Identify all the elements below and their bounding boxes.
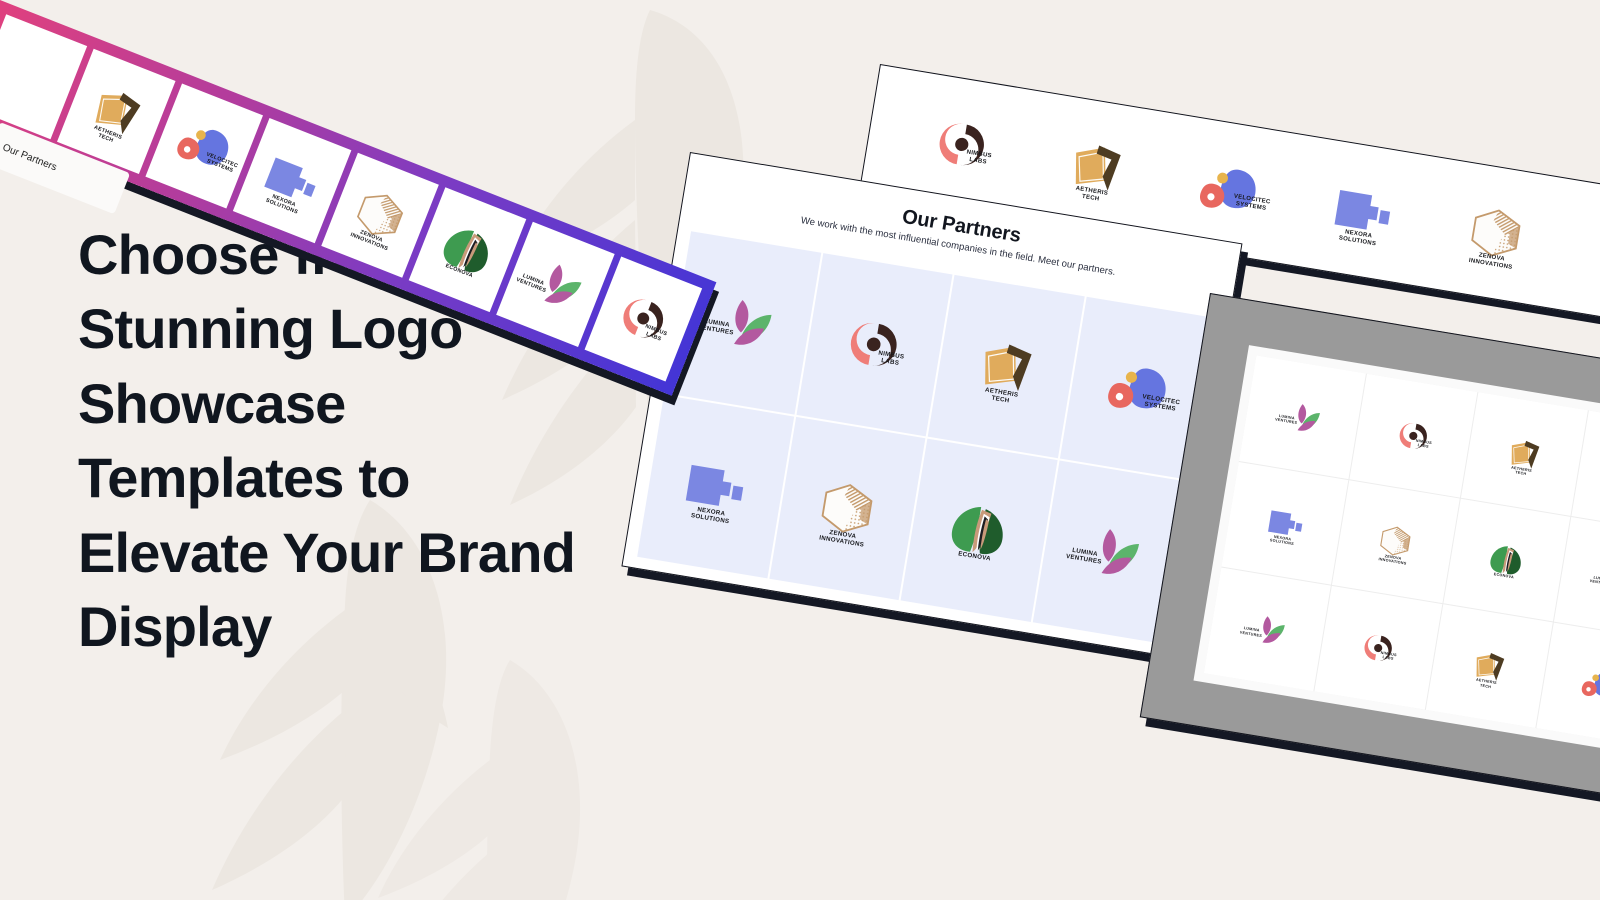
logo-aetheris[interactable]: AETHERIS TECH: [974, 336, 1039, 397]
partner-cell[interactable]: NEXORA SOLUTIONS: [1221, 462, 1348, 585]
logo-zenova[interactable]: ZENOVA INNOVATIONS: [348, 185, 412, 246]
logo-aetheris[interactable]: AETHERIS TECH: [1065, 137, 1128, 196]
partner-cell[interactable]: ECONOVA: [1443, 498, 1570, 621]
logo-velocitec[interactable]: VELOCITEC SYSTEMS: [1196, 159, 1262, 218]
logo-nimbus[interactable]: NIMBUS LABS: [1360, 631, 1397, 666]
partner-cell[interactable]: ECONOVA: [901, 439, 1058, 622]
logo-slot[interactable]: AETHERIS TECH: [1025, 131, 1167, 203]
logo-lumina[interactable]: LUMINA VENTURES: [1247, 612, 1287, 647]
logo-aetheris[interactable]: AETHERIS TECH: [85, 81, 148, 141]
logo-econova[interactable]: ECONOVA: [946, 499, 1011, 561]
partner-cell[interactable]: LUMINA VENTURES: [1204, 568, 1331, 691]
logo-lumina[interactable]: LUMINA VENTURES: [523, 255, 587, 314]
partner-cell[interactable]: AETHERIS TECH: [1460, 392, 1587, 515]
partner-cell[interactable]: NIMBUS LABS: [1315, 586, 1442, 709]
partner-cell[interactable]: AETHERIS TECH: [928, 275, 1085, 458]
logo-econova[interactable]: ECONOVA: [436, 219, 499, 280]
gray-panel-inner-sheet: LUMINA VENTURESNIMBUS LABSAETHERIS TECHV…: [1193, 345, 1600, 757]
logo-nimbus[interactable]: NIMBUS LABS: [1395, 418, 1432, 453]
partner-cell[interactable]: LUMINA VENTURES: [1239, 355, 1366, 478]
logo-velocitec[interactable]: VELOCITEC SYSTEMS: [171, 115, 237, 177]
logo-lumina[interactable]: LUMINA VENTURES: [1077, 523, 1144, 582]
logo-aetheris[interactable]: AETHERIS TECH: [1470, 648, 1509, 684]
logo-slot[interactable]: NEXORA SOLUTIONS: [1292, 176, 1433, 245]
partner-cell[interactable]: NIMBUS LABS: [796, 253, 953, 436]
logo-econova[interactable]: ECONOVA: [1487, 542, 1526, 579]
logo-slot[interactable]: VELOCITEC SYSTEMS: [1158, 153, 1300, 225]
logo-velocitec[interactable]: VELOCITEC SYSTEMS: [1103, 358, 1171, 419]
logo-nexora[interactable]: NEXORA SOLUTIONS: [1330, 182, 1396, 239]
logo-slot[interactable]: ECONOVA: [1558, 218, 1600, 291]
logo-zenova[interactable]: ZENOVA INNOVATIONS: [1464, 203, 1528, 262]
logo-nexora[interactable]: NEXORA SOLUTIONS: [259, 151, 324, 211]
logo-slot[interactable]: NIMBUS LABS: [892, 110, 1033, 179]
logo-nimbus[interactable]: NIMBUS LABS: [613, 290, 673, 348]
logo-slot[interactable]: ZENOVA INNOVATIONS: [1425, 197, 1567, 269]
partner-cell[interactable]: ZENOVA INNOVATIONS: [1332, 480, 1459, 603]
our-partners-grid-card[interactable]: Our Partners We work with the most influ…: [621, 152, 1242, 658]
gray-panel-showcase-card[interactable]: LUMINA VENTURESNIMBUS LABSAETHERIS TECHV…: [1140, 293, 1600, 809]
logo-aetheris[interactable]: AETHERIS TECH: [1505, 436, 1544, 472]
logo-zenova[interactable]: ZENOVA INNOVATIONS: [1376, 523, 1415, 559]
logo-zenova[interactable]: ZENOVA INNOVATIONS: [814, 478, 880, 539]
logo-lumina[interactable]: LUMINA VENTURES: [709, 294, 776, 353]
logo-nimbus[interactable]: NIMBUS LABS: [933, 117, 993, 173]
logo-nexora[interactable]: NEXORA SOLUTIONS: [1265, 506, 1306, 541]
peek-card-label: Our Partners: [1, 142, 58, 173]
partner-cell[interactable]: AETHERIS TECH: [1425, 605, 1552, 728]
logo-velocitec[interactable]: VELOCITEC SYSTEMS: [1579, 666, 1600, 703]
logo-nimbus[interactable]: NIMBUS LABS: [843, 316, 905, 374]
partner-cell[interactable]: NEXORA SOLUTIONS: [637, 395, 794, 578]
logo-nexora[interactable]: NEXORA SOLUTIONS: [681, 457, 749, 516]
partner-logo-grid-dense: LUMINA VENTURESNIMBUS LABSAETHERIS TECHV…: [1204, 355, 1600, 746]
partner-cell[interactable]: ZENOVA INNOVATIONS: [769, 417, 926, 600]
partner-cell[interactable]: NIMBUS LABS: [1350, 374, 1477, 497]
logo-lumina[interactable]: LUMINA VENTURES: [1283, 400, 1323, 435]
